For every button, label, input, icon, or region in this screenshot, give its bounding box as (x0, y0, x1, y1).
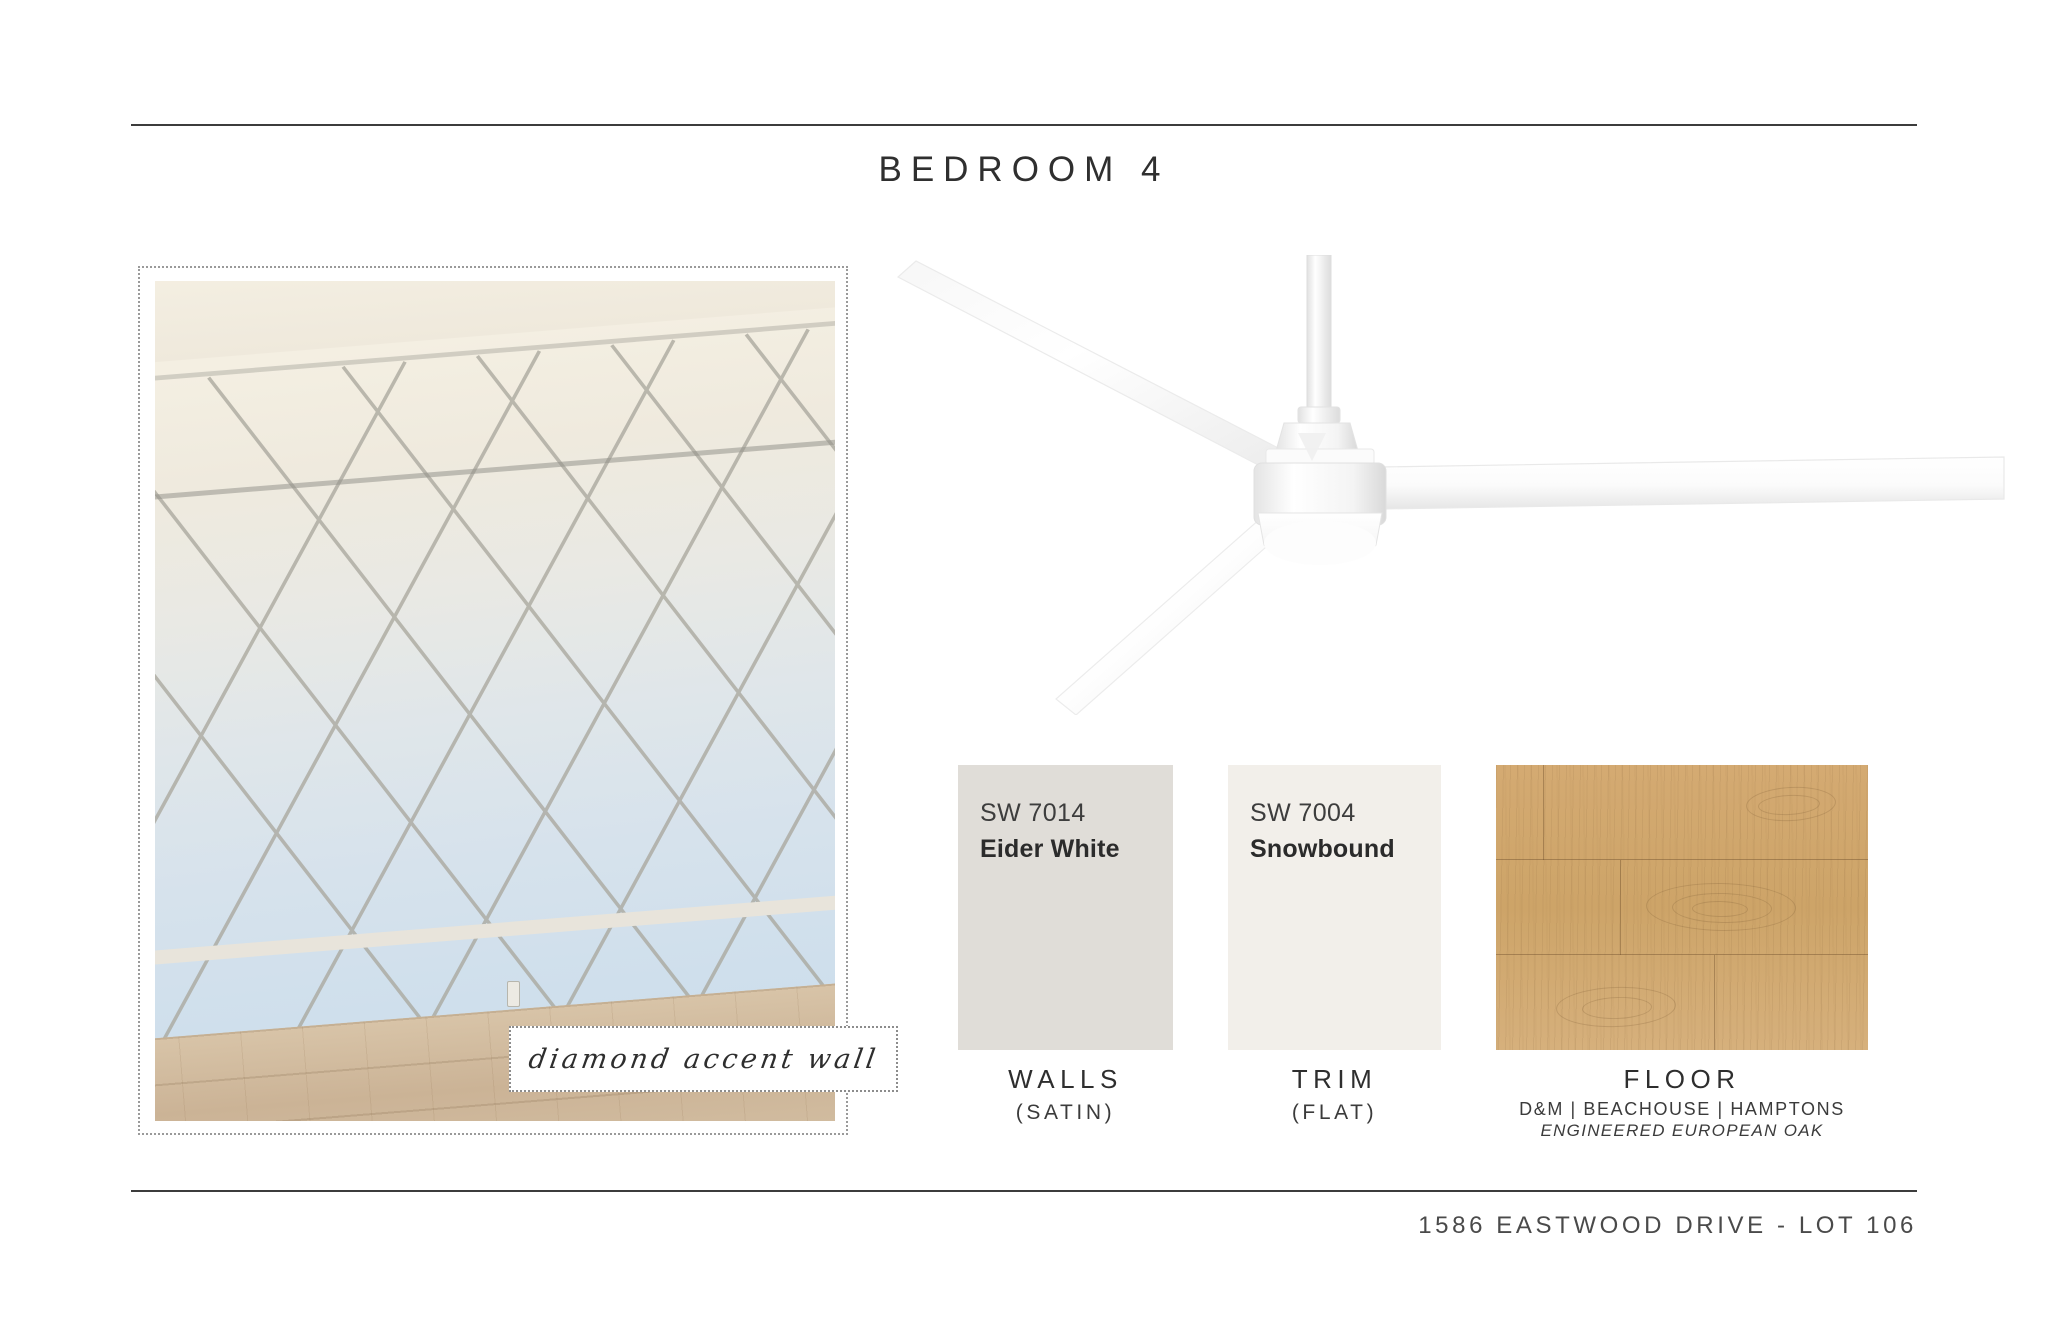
header-divider (131, 124, 1917, 126)
paint-code-walls: SW 7014 (980, 799, 1086, 828)
photo-caption-text: diamond accent wall (526, 1044, 880, 1075)
swatch-title-floor: FLOOR (1496, 1064, 1868, 1095)
page-title: BEDROOM 4 (0, 150, 2048, 190)
paint-code-trim: SW 7004 (1250, 799, 1356, 828)
material-swatch-row: SW 7014 Eider White WALLS (SATIN) SW 700… (958, 765, 1868, 1085)
paint-name-trim: Snowbound (1250, 835, 1395, 864)
paint-name-walls: Eider White (980, 835, 1120, 864)
footer-address: 1586 EASTWOOD DRIVE - LOT 106 (1418, 1212, 1917, 1240)
white-ceiling-fan (880, 255, 2010, 715)
floor-material-line: ENGINEERED EUROPEAN OAK (1496, 1121, 1868, 1141)
swatch-trim: SW 7004 Snowbound TRIM (FLAT) (1228, 765, 1441, 1125)
swatch-floor: FLOOR D&M | BEACHOUSE | HAMPTONS ENGINEE… (1496, 765, 1868, 1141)
oak-plank-texture (1496, 765, 1868, 1050)
swatch-walls: SW 7014 Eider White WALLS (SATIN) (958, 765, 1173, 1125)
footer-divider (131, 1190, 1917, 1192)
floor-brand-line: D&M | BEACHOUSE | HAMPTONS (1496, 1099, 1868, 1120)
swatch-title-walls: WALLS (958, 1064, 1173, 1095)
design-board: BEDROOM 4 (0, 0, 2048, 1325)
paint-chip-walls: SW 7014 Eider White (958, 765, 1173, 1050)
diamond-accent-wall-photo (155, 281, 835, 1121)
photo-caption-box: diamond accent wall (509, 1026, 898, 1092)
paint-chip-trim: SW 7004 Snowbound (1228, 765, 1441, 1050)
swatch-sheen-walls: (SATIN) (958, 1101, 1173, 1125)
swatch-sheen-trim: (FLAT) (1228, 1101, 1441, 1125)
floor-sample (1496, 765, 1868, 1050)
swatch-title-trim: TRIM (1228, 1064, 1441, 1095)
wall-outlet (507, 981, 520, 1007)
swatch-caption-walls: WALLS (SATIN) (958, 1064, 1173, 1125)
swatch-caption-floor: FLOOR D&M | BEACHOUSE | HAMPTONS ENGINEE… (1496, 1064, 1868, 1141)
swatch-caption-trim: TRIM (FLAT) (1228, 1064, 1441, 1125)
